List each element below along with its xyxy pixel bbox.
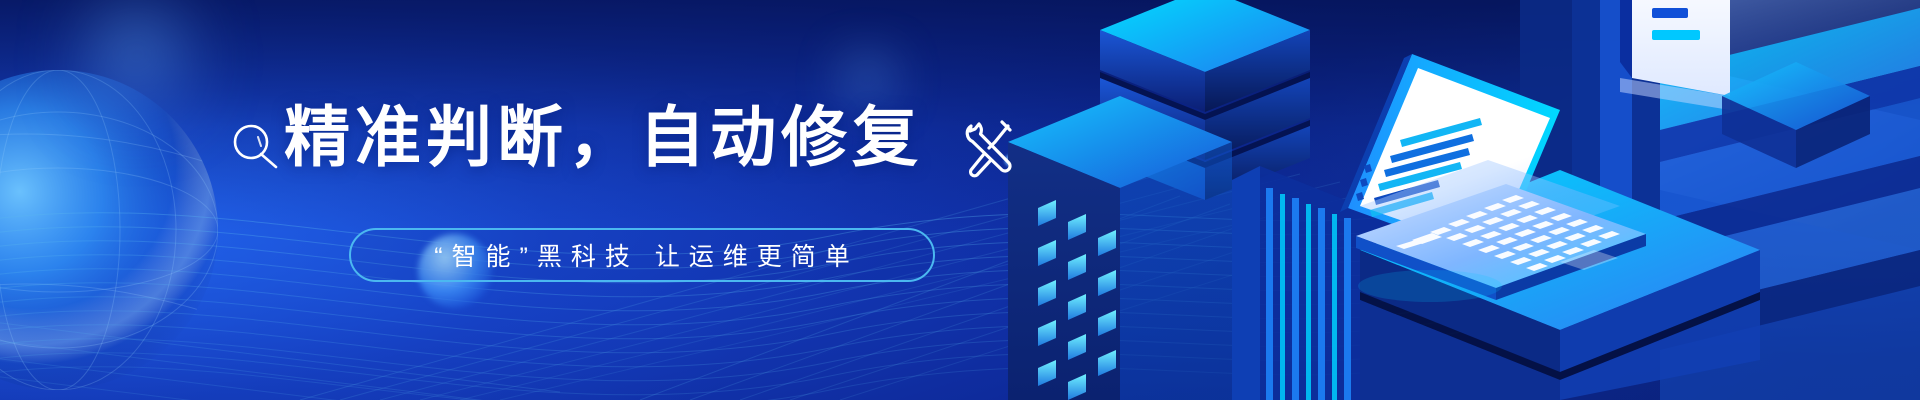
- building-windows-tower: [1008, 96, 1232, 400]
- banner-content: 精准判断，自动修复 “智能”黑科技 让运维更简单: [0, 0, 1020, 400]
- subtitle-pill: “智能”黑科技 让运维更简单: [349, 228, 935, 282]
- wrench-spanner-icon: [958, 118, 1020, 180]
- page-title: 精准判断，自动修复: [284, 104, 923, 170]
- isometric-illustration: [960, 0, 1920, 400]
- document-card: [1620, 0, 1730, 110]
- subtitle-text: “智能”黑科技 让运维更简单: [425, 237, 859, 273]
- magnifier-icon: [228, 120, 282, 172]
- banner-root: 精准判断，自动修复 “智能”黑科技 让运维更简单: [0, 0, 1920, 400]
- headline-row: 精准判断，自动修复: [284, 104, 923, 170]
